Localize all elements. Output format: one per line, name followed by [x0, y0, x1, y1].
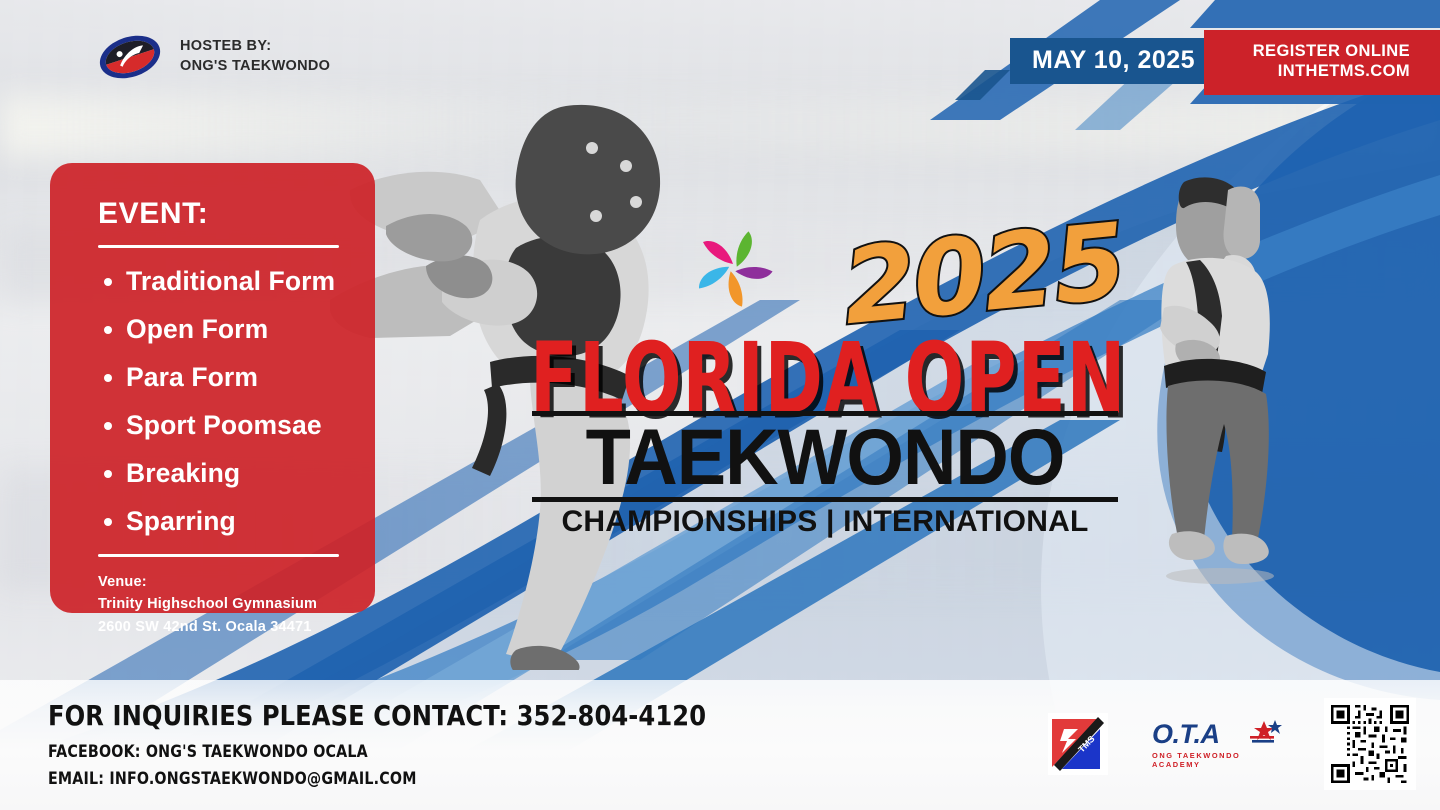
ota-logo: O.T.A ONG TAEKWONDO ACADEMY: [1152, 721, 1280, 767]
ota-name-text: O.T.A: [1152, 719, 1220, 749]
host-text: HOSTEB BY: ONG'S TAEKWONDO: [180, 37, 330, 76]
venue-address: 2600 SW 42nd St. Ocala 34471: [98, 616, 349, 638]
list-item: Sport Poomsae: [98, 410, 349, 441]
venue-label: Venue:: [98, 571, 349, 593]
contact-phone: FOR INQUIRIES PLEASE CONTACT: 352-804-41…: [48, 699, 706, 732]
list-item: Open Form: [98, 314, 349, 345]
title-taekwondo: TAEKWONDO: [528, 413, 1122, 502]
host-block: HOSTEB BY: ONG'S TAEKWONDO: [96, 30, 330, 84]
date-badge: MAY 10, 2025: [1010, 38, 1217, 84]
register-line-2: INTHETMS.COM: [1204, 62, 1410, 82]
poomsae-athlete-photo: [1120, 168, 1330, 618]
contact-email: EMAIL: INFO.ONGSTAEKWONDO@GMAIL.COM: [48, 769, 706, 788]
event-panel-title: EVENT:: [98, 197, 349, 231]
register-line-1: REGISTER ONLINE: [1204, 42, 1410, 62]
contact-block: FOR INQUIRIES PLEASE CONTACT: 352-804-41…: [48, 699, 734, 796]
list-item: Para Form: [98, 362, 349, 393]
host-label: HOSTEB BY:: [180, 37, 330, 57]
divider-bottom: [98, 554, 339, 557]
venue-name: Trinity Highschool Gymnasium: [98, 593, 349, 615]
divider-top: [98, 245, 339, 248]
contact-facebook: FACEBOOK: ONG'S TAEKWONDO OCALA: [48, 742, 706, 761]
list-item: Sparring: [98, 506, 349, 537]
poster-canvas: HOSTEB BY: ONG'S TAEKWONDO MAY 10, 2025 …: [0, 0, 1440, 810]
ongs-taekwondo-oval-logo: [96, 30, 164, 84]
qr-code[interactable]: [1324, 698, 1416, 790]
ota-tagline: ONG TAEKWONDO ACADEMY: [1152, 751, 1280, 769]
footer-logos: TMS O.T.A ONG TAEKWONDO ACADEMY: [1048, 698, 1416, 790]
list-item: Traditional Form: [98, 266, 349, 297]
tms-triangle-logo: TMS: [1048, 713, 1108, 775]
register-online-badge[interactable]: REGISTER ONLINE INTHETMS.COM: [1204, 30, 1440, 95]
host-name: ONG'S TAEKWONDO: [180, 57, 330, 77]
title-subtitle: CHAMPIONSHIPS | INTERNATIONAL: [528, 505, 1122, 539]
event-list: Traditional Form Open Form Para Form Spo…: [76, 266, 349, 537]
venue-block: Venue: Trinity Highschool Gymnasium 2600…: [76, 571, 349, 638]
ota-stars-icon: [1248, 719, 1282, 749]
taekwondo-pinwheel-logo: [692, 227, 774, 309]
title-lockup: 2025 FLORIDA OPEN TAEKWONDO CHAMPIONSHIP…: [520, 215, 1120, 535]
event-panel: EVENT: Traditional Form Open Form Para F…: [50, 163, 375, 613]
title-rule-bottom: [532, 497, 1118, 502]
list-item: Breaking: [98, 458, 349, 489]
